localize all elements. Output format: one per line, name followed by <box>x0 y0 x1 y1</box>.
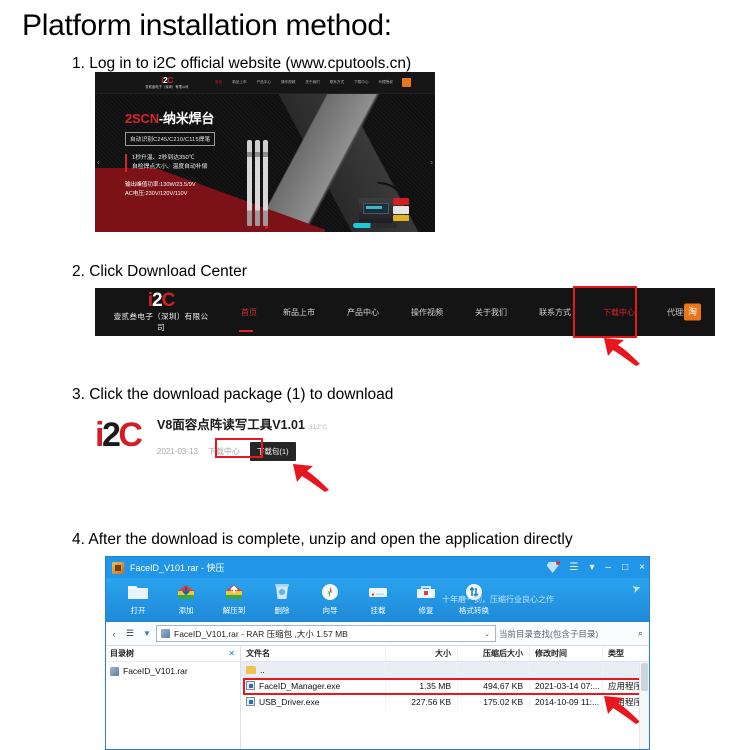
download-item-logo: i2C <box>95 420 140 450</box>
banner-nav-item-contact[interactable]: 联系方式 <box>330 80 344 85</box>
open-folder-icon <box>114 580 162 604</box>
logo-letter-c: C <box>118 416 140 454</box>
logo-letter-c: C <box>162 290 175 311</box>
toolbar-label-open: 打开 <box>114 605 162 616</box>
window-toolbar: 打开 添加 解压到 删除 向导 <box>106 578 649 622</box>
file-size-cell: 1.35 MB <box>386 678 458 694</box>
station-display <box>363 203 389 214</box>
toolbar-label-wizard: 向导 <box>306 605 354 616</box>
banner-headline: 2SCN-纳米焊台 <box>125 108 215 127</box>
search-input[interactable]: 当前目录查找(包含子目录) ⌕ <box>499 625 649 642</box>
annotation-arrow-step3 <box>285 462 331 490</box>
soldering-tip <box>247 140 252 226</box>
station-buttons <box>393 198 411 222</box>
chevron-down-icon[interactable]: ▼ <box>138 629 156 638</box>
toolbar-button-wizard[interactable]: 向导 <box>306 578 354 616</box>
directory-tree-item[interactable]: FaceID_V101.rar <box>106 662 240 676</box>
kuaizip-app-icon <box>112 562 124 574</box>
banner-feature-line-2: 自检焊点大小、温度自动补偿 <box>132 163 215 172</box>
file-packed-cell <box>458 662 530 678</box>
table-row[interactable]: .. <box>241 662 649 678</box>
banner-feature-lines: 1秒升温、2秒到达350℃ 自检焊点大小、温度自动补偿 <box>125 154 215 172</box>
banner-nav-item-new[interactable]: 新品上市 <box>232 80 246 85</box>
nav-item-about-us[interactable]: 关于我们 <box>459 307 523 318</box>
window-titlebar: FaceID_V101.rar - 快压 ☰ ▾ – □ × <box>106 557 649 578</box>
paper-plane-icon: ➤ <box>630 581 643 596</box>
banner-nav-item-products[interactable]: 产品中心 <box>257 80 271 85</box>
banner-spec-line-1: 输出峰值功率:130W/23.5/9V <box>125 181 215 190</box>
carousel-prev-icon[interactable]: ‹ <box>97 160 99 167</box>
path-input[interactable]: FaceID_V101.rar - RAR 压缩包 ,大小 1.57 MB ⌄ <box>156 625 496 642</box>
station-button-yellow <box>393 215 409 221</box>
search-placeholder: 当前目录查找(包含子目录) <box>499 628 598 640</box>
table-row[interactable]: FaceID_Manager.exe 1.35 MB 494.67 KB 202… <box>241 678 649 694</box>
nav-item-operation-videos[interactable]: 操作视频 <box>395 307 459 318</box>
column-header-type[interactable]: 类型 <box>603 646 649 662</box>
file-date-cell <box>530 662 603 678</box>
soldering-tip <box>263 140 268 226</box>
banner-nav-item-about[interactable]: 关于我们 <box>305 80 319 85</box>
step-3-text: 3. Click the download package (1) to dow… <box>0 385 393 405</box>
toolbar-button-delete[interactable]: 删除 <box>258 578 306 616</box>
banner-hero: 2SCN-纳米焊台 自动识别C245/C210/C115焊笔 1秒升温、2秒到达… <box>95 94 435 232</box>
station-button-white <box>393 206 409 214</box>
executable-icon <box>246 697 255 706</box>
file-list-panel: 文件名 大小 压缩后大小 修改时间 类型 .. FaceID_Manager.e… <box>241 646 649 750</box>
toolbar-label-add: 添加 <box>162 605 210 616</box>
feedback-icon[interactable]: ☰ <box>570 563 579 573</box>
vertical-scrollbar[interactable] <box>639 662 649 750</box>
carousel-dot[interactable] <box>265 226 268 229</box>
banner-headline-rest: -纳米焊台 <box>159 111 214 126</box>
banner-nav-item-agent[interactable]: 代理授权 <box>378 80 392 85</box>
column-header-size[interactable]: 大小 <box>386 646 458 662</box>
vip-diamond-icon[interactable] <box>547 562 559 573</box>
figure-kuaizip-window: FaceID_V101.rar - 快压 ☰ ▾ – □ × 打开 添加 <box>105 556 650 750</box>
red-arrow-icon <box>285 462 331 492</box>
red-arrow-icon <box>596 694 642 724</box>
extract-archive-icon <box>210 580 258 604</box>
file-date-cell: 2014-10-09 11:... <box>530 694 603 710</box>
file-date-cell: 2021-03-14 07:... <box>530 678 603 694</box>
file-name-cell: .. <box>241 662 386 678</box>
logo-letter-2: 2 <box>152 290 162 311</box>
banner-badge: 自动识别C245/C210/C115焊笔 <box>125 132 215 146</box>
annotation-arrow-step4 <box>596 694 642 724</box>
figure-download-item: i2C V8面容点阵读写工具V1.01312°C 2021-03-13 下载中心… <box>95 408 425 470</box>
red-arrow-icon <box>596 336 642 366</box>
toolbar-button-mount[interactable]: 挂载 <box>354 578 402 616</box>
nav-item-home[interactable]: 首页 <box>241 307 267 318</box>
file-name-cell: USB_Driver.exe <box>241 694 386 710</box>
window-controls: ☰ ▾ – □ × <box>547 557 645 578</box>
window-title-text: FaceID_V101.rar - 快压 <box>130 561 225 574</box>
logo-letter-2: 2 <box>102 416 118 454</box>
banner-headline-model: 2SCN <box>125 111 159 126</box>
page-title: Platform installation method: <box>0 0 750 46</box>
column-header-packed-size[interactable]: 压缩后大小 <box>458 646 530 662</box>
banner-nav-item-home[interactable]: 首页 <box>215 80 222 85</box>
file-name-cell: FaceID_Manager.exe <box>241 678 386 694</box>
figure-website-banner: i2C 壹贰叁电子（深圳）有限公司 首页 新品上市 产品中心 操作视频 关于我们… <box>95 72 435 232</box>
download-item-date: 2021-03-13 <box>157 447 198 456</box>
nav-item-agent-authorization[interactable]: 代理授权 <box>651 307 715 318</box>
file-size-cell <box>386 662 458 678</box>
column-header-filename[interactable]: 文件名 <box>241 646 386 662</box>
wizard-compass-icon <box>306 580 354 604</box>
step-2-text: 2. Click Download Center <box>0 262 247 282</box>
banner-nav-items: 首页 新品上市 产品中心 操作视频 关于我们 联系方式 下载中心 代理授权 <box>215 80 393 85</box>
taobao-cart-icon[interactable]: 淘 <box>684 304 701 321</box>
step-4-text: 4. After the download is complete, unzip… <box>0 530 573 550</box>
toolbar-label-repair: 修复 <box>402 605 450 616</box>
figure-download-center-nav: i2C 壹贰叁电子（深圳）有限公司 首页 新品上市 产品中心 操作视频 关于我们… <box>95 288 715 336</box>
download-item-temp: 312°C <box>309 424 327 431</box>
trash-icon <box>258 580 306 604</box>
back-icon[interactable]: ‹ <box>106 629 122 639</box>
directory-tree-panel: 目录树 ✕ FaceID_V101.rar <box>106 646 241 750</box>
soldering-iron-graphic <box>353 223 397 228</box>
logo-letter-i: i <box>95 416 102 454</box>
banner-nav-item-download[interactable]: 下载中心 <box>354 80 368 85</box>
toolbar-label-extract: 解压到 <box>210 605 258 616</box>
annotation-highlight-box <box>215 438 263 458</box>
mount-drive-icon <box>354 580 402 604</box>
nav-item-product-center[interactable]: 产品中心 <box>331 307 395 318</box>
banner-logo[interactable]: i2C 壹贰叁电子（深圳）有限公司 <box>133 76 201 89</box>
banner-nav-item-videos[interactable]: 操作视频 <box>281 80 295 85</box>
soldering-tips-image <box>247 140 277 226</box>
file-packed-cell: 494.67 KB <box>458 678 530 694</box>
directory-tree-item-label: FaceID_V101.rar <box>123 666 188 676</box>
address-bar: ‹ ☰ ▼ FaceID_V101.rar - RAR 压缩包 ,大小 1.57… <box>106 622 649 646</box>
annotation-arrow-step2 <box>596 336 642 364</box>
banner-copy: 2SCN-纳米焊台 自动识别C245/C210/C115焊笔 1秒升温、2秒到达… <box>125 108 215 199</box>
annotation-highlight-box <box>573 286 637 338</box>
menu-chevron-icon[interactable]: ▾ <box>590 563 595 573</box>
toolbar-label-format-convert: 格式转换 <box>450 605 498 616</box>
close-panel-icon[interactable]: ✕ <box>228 649 235 658</box>
file-size-cell: 227.56 KB <box>386 694 458 710</box>
download-item-title-text: V8面容点阵读写工具V1.01 <box>157 418 305 432</box>
banner-logo-mark: i2C <box>133 76 201 85</box>
minimize-icon[interactable]: – <box>606 563 612 573</box>
banner-logo-company: 壹贰叁电子（深圳）有限公司 <box>135 86 200 89</box>
shopping-cart-icon[interactable] <box>402 78 411 87</box>
banner-navbar: i2C 壹贰叁电子（深圳）有限公司 首页 新品上市 产品中心 操作视频 关于我们… <box>95 72 435 94</box>
nav-item-new-arrivals[interactable]: 新品上市 <box>267 307 331 318</box>
logo-letter-c: C <box>167 75 173 85</box>
soldering-tip <box>255 140 260 226</box>
directory-tree-title: 目录树 <box>110 648 134 659</box>
banner-feature-line-1: 1秒升温、2秒到达350℃ <box>132 154 215 163</box>
download-item-title[interactable]: V8面容点阵读写工具V1.01312°C <box>157 414 327 433</box>
toolbar-label-delete: 删除 <box>258 605 306 616</box>
site-logo[interactable]: i2C 壹贰叁电子（深圳）有限公司 <box>113 292 209 333</box>
path-input-value: FaceID_V101.rar - RAR 压缩包 ,大小 1.57 MB <box>174 628 348 640</box>
file-list-header: 文件名 大小 压缩后大小 修改时间 类型 <box>241 646 649 662</box>
rar-file-icon <box>110 667 119 676</box>
add-archive-icon <box>162 580 210 604</box>
rar-file-icon <box>161 629 170 638</box>
station-body <box>359 198 393 224</box>
soldering-station-image <box>359 184 411 224</box>
station-button-red <box>393 198 409 205</box>
carousel-next-icon[interactable]: › <box>431 160 433 167</box>
toolbar-button-open[interactable]: 打开 <box>114 578 162 616</box>
path-dropdown-icon[interactable]: ⌄ <box>484 630 490 638</box>
window-main: 目录树 ✕ FaceID_V101.rar 文件名 大小 压缩后大小 修改时间 … <box>106 646 649 750</box>
toolbar-button-extract[interactable]: 解压到 <box>210 578 258 616</box>
folder-up-icon <box>246 666 256 674</box>
executable-icon <box>246 681 255 690</box>
site-logo-company: 壹贰叁电子（深圳）有限公司 <box>113 311 209 333</box>
toolbar-slogan: 十年磨一剑，压缩行业良心之作 <box>442 594 554 605</box>
directory-tree-header: 目录树 ✕ <box>106 646 240 662</box>
file-packed-cell: 175.02 KB <box>458 694 530 710</box>
search-icon[interactable]: ⌕ <box>638 628 643 639</box>
site-logo-mark: i2C <box>113 292 209 309</box>
banner-spec-lines: 输出峰值功率:130W/23.5/9V AC电压:230V/120V/110V <box>125 181 215 199</box>
column-header-modified[interactable]: 修改时间 <box>530 646 603 662</box>
step-1-text: 1. Log in to i2C official website (www.c… <box>0 46 750 74</box>
maximize-icon[interactable]: □ <box>622 563 628 573</box>
close-icon[interactable]: × <box>639 563 645 573</box>
table-row[interactable]: USB_Driver.exe 227.56 KB 175.02 KB 2014-… <box>241 694 649 710</box>
toolbar-label-mount: 挂载 <box>354 605 402 616</box>
banner-spec-line-2: AC电压:230V/120V/110V <box>125 190 215 199</box>
list-view-icon[interactable]: ☰ <box>122 628 138 639</box>
site-nav: 首页 新品上市 产品中心 操作视频 关于我们 联系方式 下载中心 代理授权 <box>241 307 715 318</box>
toolbar-button-add[interactable]: 添加 <box>162 578 210 616</box>
